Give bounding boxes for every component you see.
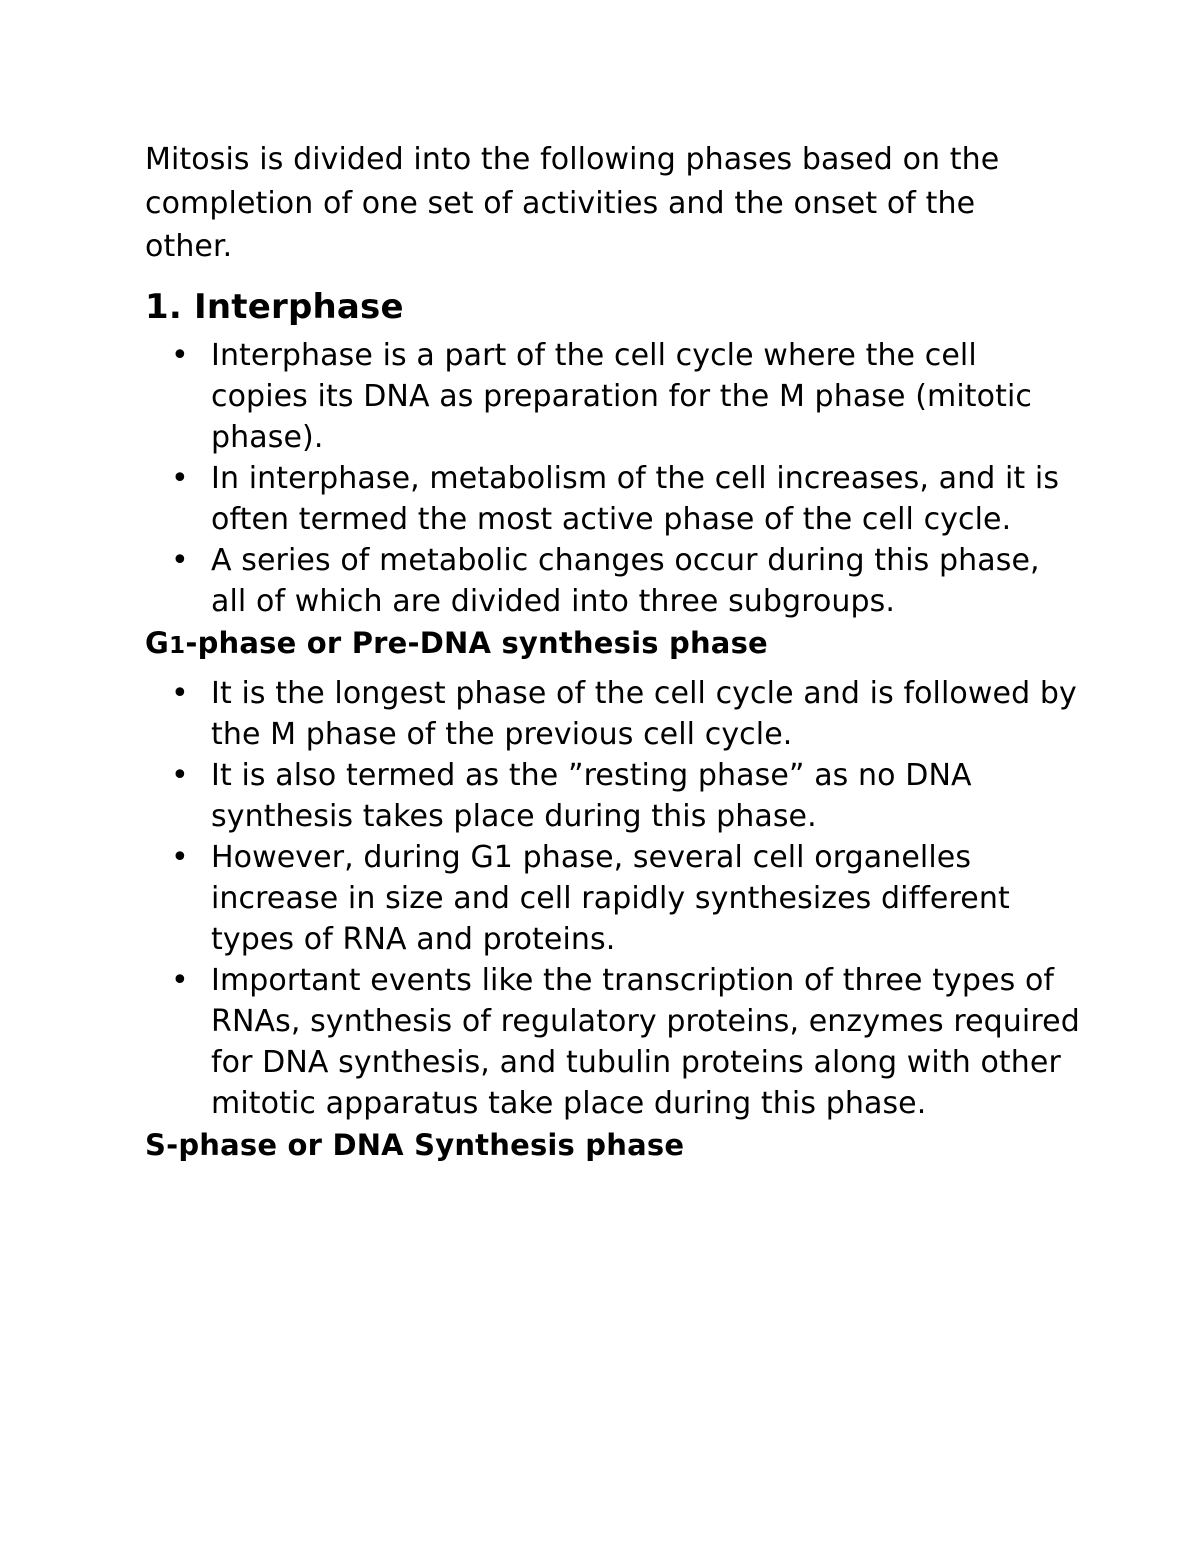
list-item-text: However, during G1 phase, several cell o…	[211, 840, 1010, 957]
section-heading-interphase: 1. Interphase	[145, 287, 1075, 327]
subheading-g1-prefix: G	[145, 626, 169, 660]
bullet-icon: •	[171, 673, 191, 714]
list-item-text: It is also termed as the ”resting phase”…	[211, 758, 972, 834]
list-item: • It is the longest phase of the cell cy…	[145, 673, 1081, 755]
bullet-icon: •	[171, 960, 191, 1001]
list-item-text: It is the longest phase of the cell cycl…	[211, 676, 1077, 752]
list-item: • It is also termed as the ”resting phas…	[145, 755, 1081, 837]
document-content: Mitosis is divided into the following ph…	[145, 138, 1075, 1164]
list-item: • A series of metabolic changes occur du…	[145, 540, 1081, 622]
list-item: • In interphase, metabolism of the cell …	[145, 458, 1081, 540]
subheading-g1-phase: G1-phase or Pre-DNA synthesis phase	[145, 624, 1075, 665]
bullet-icon: •	[171, 837, 191, 878]
g1-phase-bullet-list: • It is the longest phase of the cell cy…	[145, 673, 1075, 1124]
list-item-text: Interphase is a part of the cell cycle w…	[211, 338, 1032, 455]
bullet-icon: •	[171, 540, 191, 581]
subheading-g1-rest: -phase or Pre-DNA synthesis phase	[185, 626, 768, 660]
intro-paragraph: Mitosis is divided into the following ph…	[145, 138, 1055, 269]
list-item: • However, during G1 phase, several cell…	[145, 837, 1081, 960]
list-item-text: In interphase, metabolism of the cell in…	[211, 461, 1059, 537]
list-item-text: Important events like the transcription …	[211, 963, 1080, 1121]
interphase-bullet-list: • Interphase is a part of the cell cycle…	[145, 335, 1075, 622]
bullet-icon: •	[171, 755, 191, 796]
subheading-g1-numeral: 1	[169, 632, 185, 659]
bullet-icon: •	[171, 335, 191, 376]
document-page: Mitosis is divided into the following ph…	[0, 0, 1200, 1553]
subheading-s-phase: S-phase or DNA Synthesis phase	[145, 1126, 1075, 1164]
list-item: • Important events like the transcriptio…	[145, 960, 1081, 1124]
list-item: • Interphase is a part of the cell cycle…	[145, 335, 1081, 458]
list-item-text: A series of metabolic changes occur duri…	[211, 543, 1040, 619]
bullet-icon: •	[171, 458, 191, 499]
